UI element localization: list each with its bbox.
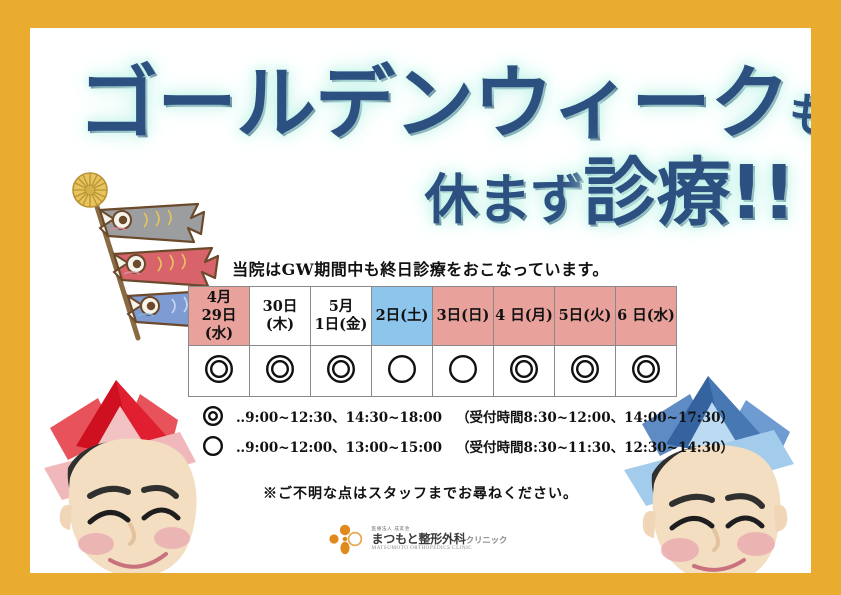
double-circle-icon (570, 354, 600, 384)
calendar-header-day: 2日(土) (372, 307, 432, 325)
table-mark-row (189, 346, 677, 397)
legend-reception-1: （受付時間8:30~12:00、14:00~17:30） (456, 406, 734, 426)
legend-reception-2: （受付時間8:30~11:30、12:30~14:30） (456, 436, 734, 456)
legend-hours-2: ‥9:00~12:00、13:00~15:00 (236, 436, 442, 456)
calendar-mark-2 (250, 346, 311, 397)
clinic-logo: 医療法人 成友会 まつもと整形外科クリニック MATSUMOTO ORTHOPE… (326, 520, 516, 560)
pole-finial-icon (73, 173, 107, 207)
calendar-mark-7 (555, 346, 616, 397)
single-circle-icon (202, 435, 236, 457)
calendar-header-2: 30日(木) (250, 287, 311, 346)
koinobori-black (100, 204, 204, 242)
calendar-mark-3 (311, 346, 372, 397)
double-circle-icon (326, 354, 356, 384)
legend-row-2: ‥9:00~12:00、13:00~15:00（受付時間8:30~11:30、1… (202, 431, 722, 461)
title-line-2: 休まず診療!! (425, 156, 796, 230)
calendar-mark-5 (433, 346, 494, 397)
title-line-1-suffix: も (789, 88, 811, 142)
gw-schedule-table: 4月29日(水)30日(木)5月1日(金)2日(土)3日(日)4 日(月)5日(… (188, 286, 677, 397)
double-circle-icon (265, 354, 295, 384)
legend-block: ‥9:00~12:30、14:30~18:00（受付時間8:30~12:00、1… (202, 401, 722, 461)
calendar-header-month: 4月 (189, 289, 249, 307)
calendar-header-1: 4月29日(水) (189, 287, 250, 346)
double-circle-icon (204, 354, 234, 384)
title-line-1: ゴールデンウィークも (78, 64, 811, 144)
title-line-2-main: 診療!! (584, 150, 796, 236)
calendar-header-day: 5日(火) (555, 307, 615, 325)
title-line-1-main: ゴールデンウィーク (78, 57, 789, 150)
clinic-name-english: MATSUMOTO ORTHOPEDICS CLINIC (372, 546, 508, 551)
calendar-header-7: 5日(火) (555, 287, 616, 346)
single-circle-icon (448, 354, 478, 384)
calendar-header-8: 6 日(水) (616, 287, 677, 346)
calendar-header-6: 4 日(月) (494, 287, 555, 346)
calendar-header-5: 3日(日) (433, 287, 494, 346)
calendar-mark-1 (189, 346, 250, 397)
calendar-header-day: 1日(金) (311, 316, 371, 334)
calendar-mark-8 (616, 346, 677, 397)
double-circle-icon (631, 354, 661, 384)
footer-note: ※ご不明な点はスタッフまでお尋ねください。 (30, 483, 811, 503)
table-header-row: 4月29日(水)30日(木)5月1日(金)2日(土)3日(日)4 日(月)5日(… (189, 287, 677, 346)
calendar-header-day: 30日(木) (250, 298, 310, 334)
subtitle-text: 当院はGW期間中も終日診療をおこなっています。 (30, 256, 811, 280)
calendar-header-day: 4 日(月) (494, 307, 554, 325)
clinic-name-kanji: まつもと整形外科 (372, 532, 466, 546)
calendar-mark-4 (372, 346, 433, 397)
poster-inner-canvas: ゴールデンウィークも 休まず診療!! (30, 28, 811, 573)
calendar-header-day: 6 日(水) (616, 307, 676, 325)
clinic-logo-mark-icon (326, 523, 366, 557)
calendar-header-3: 5月1日(金) (311, 287, 372, 346)
legend-row-1: ‥9:00~12:30、14:30~18:00（受付時間8:30~12:00、1… (202, 401, 722, 431)
legend-hours-1: ‥9:00~12:30、14:30~18:00 (236, 406, 442, 426)
calendar-header-day: 29日(水) (189, 307, 249, 343)
calendar-header-day: 3日(日) (433, 307, 493, 325)
calendar-mark-6 (494, 346, 555, 397)
calendar-header-4: 2日(土) (372, 287, 433, 346)
single-circle-icon (387, 354, 417, 384)
poster-root: ゴールデンウィークも 休まず診療!! (0, 0, 841, 595)
double-circle-icon (202, 405, 236, 427)
double-circle-icon (509, 354, 539, 384)
clinic-logo-text: 医療法人 成友会 まつもと整形外科クリニック MATSUMOTO ORTHOPE… (372, 528, 508, 551)
title-line-2-prefix: 休まず (425, 168, 584, 231)
calendar-header-month: 5月 (311, 298, 371, 316)
